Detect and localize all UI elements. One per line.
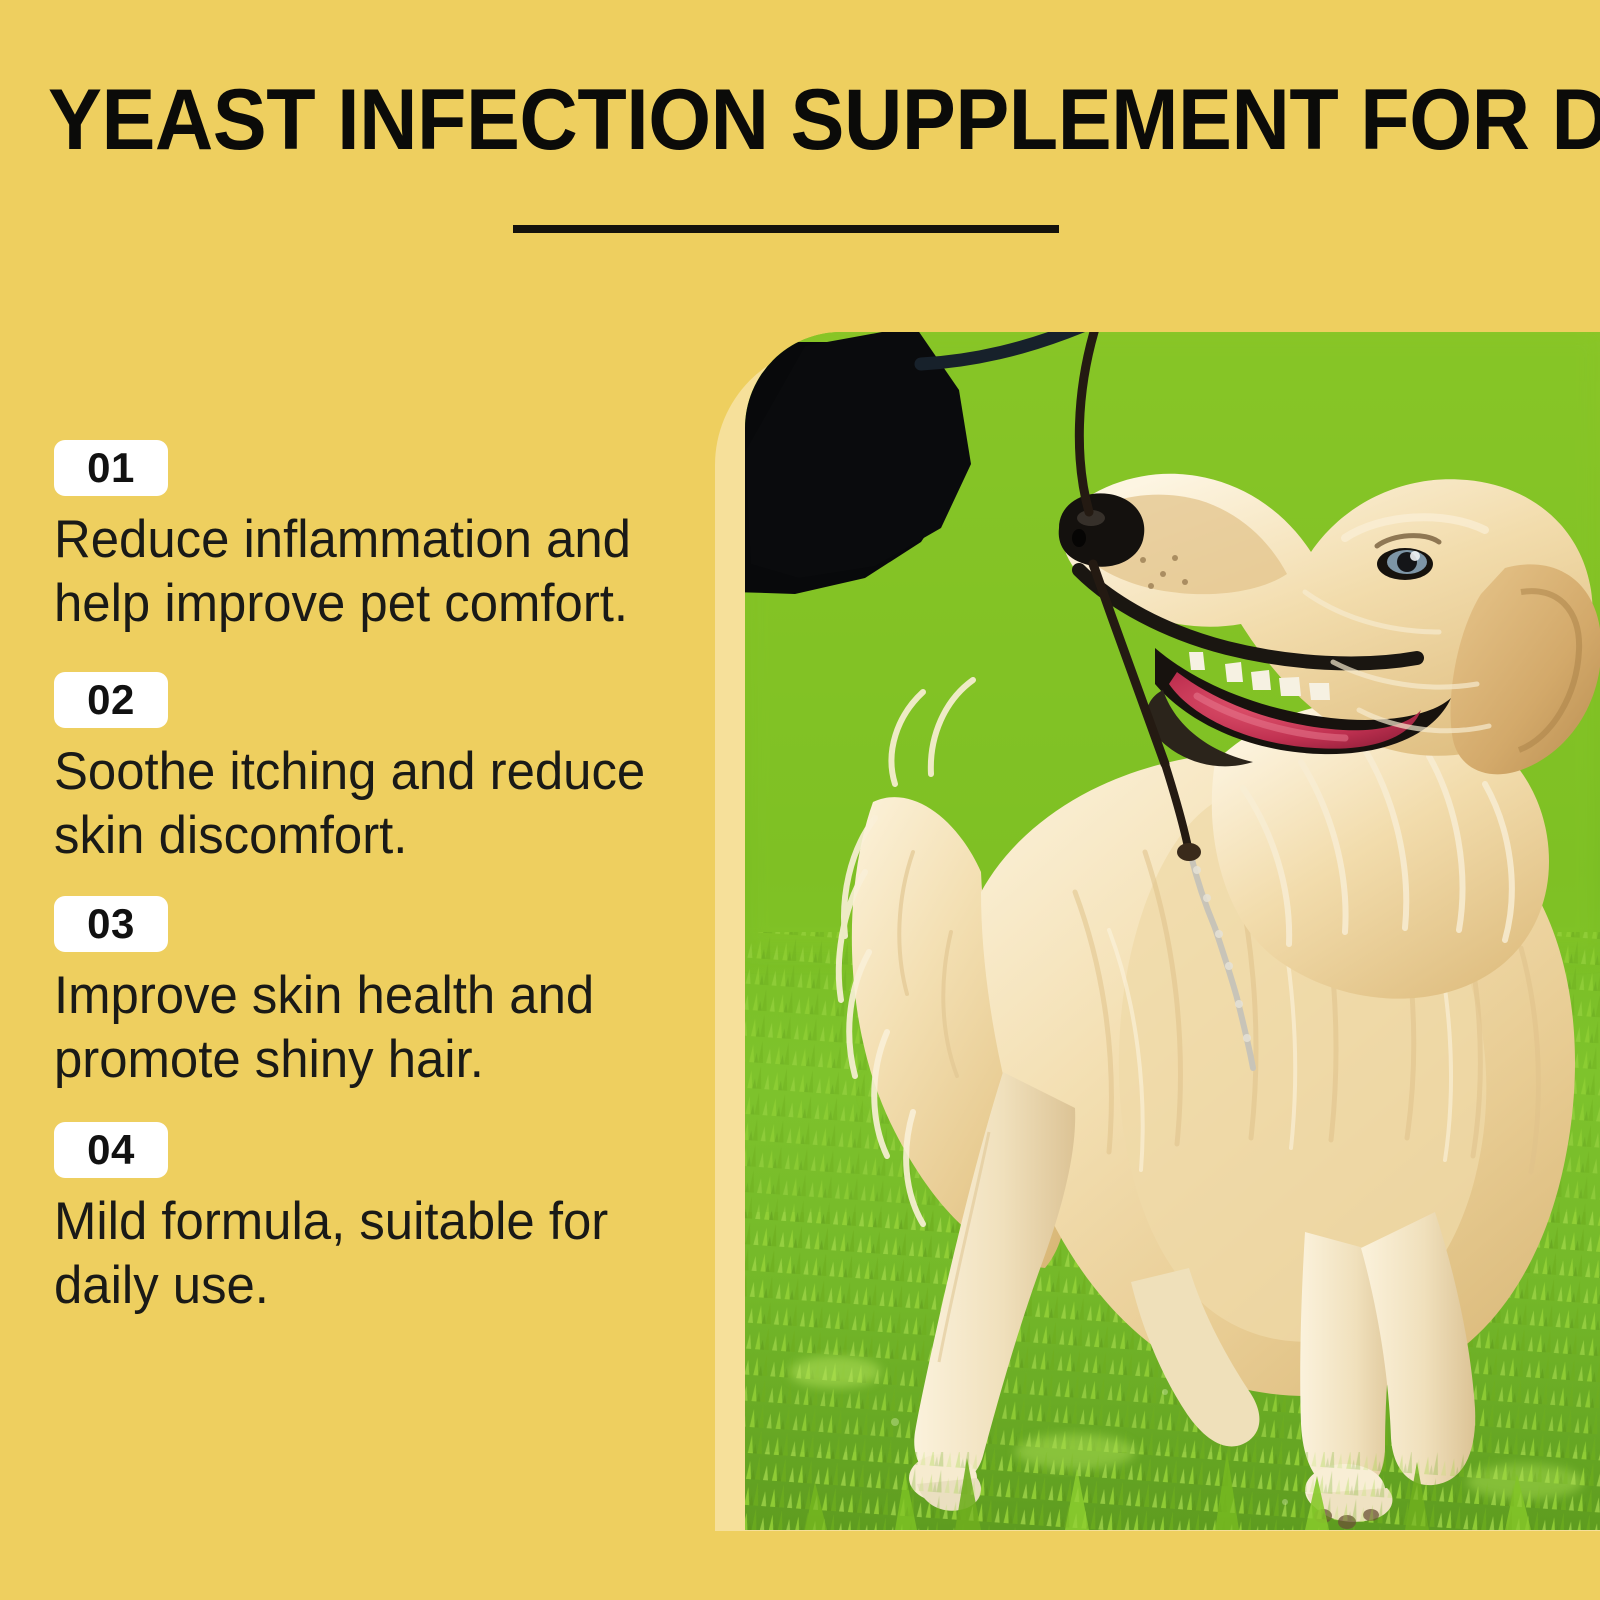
feature-item-04: 04 Mild formula, suitable for daily use. [54,1122,674,1318]
feature-item-03: 03 Improve skin health and promote shiny… [54,896,674,1092]
page-title: YEAST INFECTION SUPPLEMENT FOR DOGS [48,74,1467,166]
feature-text-02: Soothe itching and reduce skin discomfor… [54,740,649,868]
feature-text-03: Improve skin health and promote shiny ha… [54,964,649,1092]
feature-list: 01 Reduce inflammation and help improve … [54,440,674,1346]
feature-number-badge-04: 04 [54,1122,168,1178]
dog-photo [745,332,1600,1530]
feature-number-badge-03: 03 [54,896,168,952]
feature-number-badge-02: 02 [54,672,168,728]
feature-item-02: 02 Soothe itching and reduce skin discom… [54,672,674,868]
feature-text-01: Reduce inflammation and help improve pet… [54,508,649,636]
feature-item-01: 01 Reduce inflammation and help improve … [54,440,674,636]
poster-canvas: YEAST INFECTION SUPPLEMENT FOR DOGS 01 R… [0,0,1600,1600]
title-underline-rule [513,225,1059,233]
feature-text-04: Mild formula, suitable for daily use. [54,1190,649,1318]
dog-photo-illustration [745,332,1600,1530]
feature-number-badge-01: 01 [54,440,168,496]
